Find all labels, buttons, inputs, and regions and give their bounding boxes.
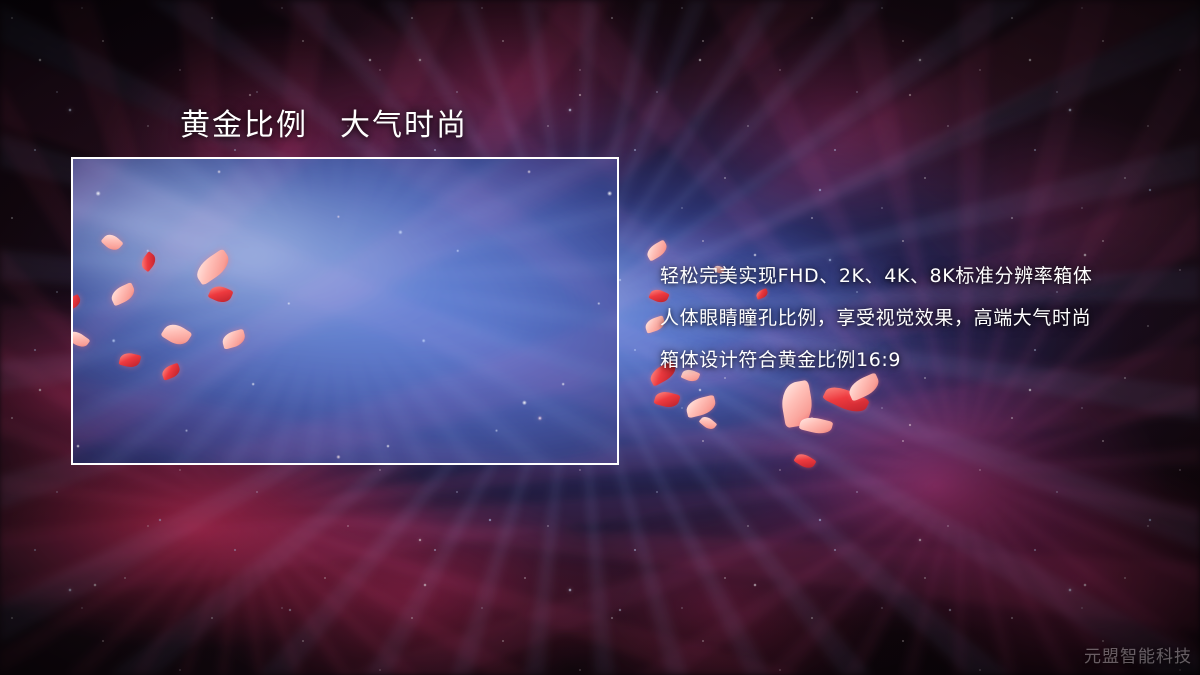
flower-petal — [822, 381, 870, 417]
slide-title: 黄金比例 大气时尚 — [180, 100, 468, 144]
flower-petal — [208, 283, 234, 306]
framed-starfield-bright — [73, 159, 617, 463]
flower-petal — [192, 248, 234, 286]
presentation-slide: 黄金比例 大气时尚 轻松完美实现FHD、2K、4K、8K标准分辨率箱体 人体眼睛… — [0, 0, 1200, 675]
flower-petal — [108, 282, 137, 307]
flower-petal — [653, 389, 680, 410]
flower-petal — [138, 251, 158, 272]
framed-nebula-clouds — [73, 159, 617, 463]
flower-petal — [160, 320, 192, 350]
flower-petal — [73, 328, 90, 351]
body-line-1: 轻松完美实现FHD、2K、4K、8K标准分辨率箱体 — [660, 255, 1180, 297]
body-line-2: 人体眼睛瞳孔比例，享受视觉效果，高端大气时尚 — [660, 297, 1180, 339]
flower-petal — [699, 414, 718, 432]
body-line-3: 箱体设计符合黄金比例16:9 — [660, 339, 1180, 381]
flower-petal — [684, 395, 717, 419]
flower-petal — [160, 363, 182, 381]
framed-nebula-core — [73, 159, 617, 463]
framed-nebula-wisps — [73, 159, 617, 463]
framed-product-image — [71, 157, 619, 465]
flower-petal — [101, 231, 124, 254]
framed-nebula-base — [73, 159, 617, 463]
framed-starfield-medium — [73, 159, 617, 463]
flower-petal — [793, 451, 816, 472]
company-watermark: 元盟智能科技 — [1084, 642, 1192, 667]
flower-petal — [73, 294, 83, 312]
body-copy-block: 轻松完美实现FHD、2K、4K、8K标准分辨率箱体 人体眼睛瞳孔比例，享受视觉效… — [660, 255, 1180, 381]
flower-petal — [221, 329, 247, 350]
flower-petal — [118, 351, 141, 369]
framed-starfield-small — [73, 159, 617, 463]
flower-petal — [799, 414, 834, 436]
flower-petal — [778, 380, 815, 429]
framed-image-inner — [73, 159, 617, 463]
framed-image-zoom — [73, 159, 617, 463]
